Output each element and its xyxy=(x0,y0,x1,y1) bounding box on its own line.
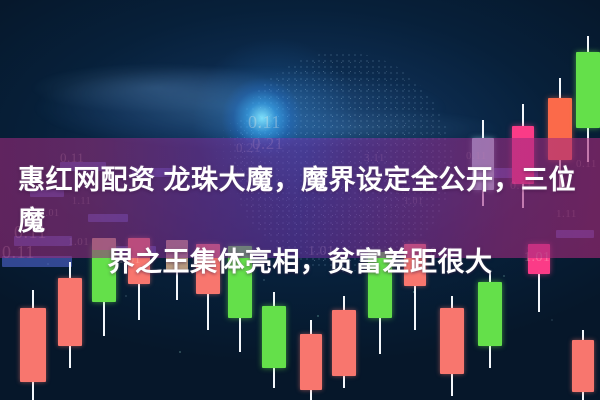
page-title: 惠红网配资 龙珠大魔，魔界设定全公开，三位魔 界之王集体亮相，贫富差距很大 xyxy=(0,160,600,283)
headline-line-2: 界之王集体亮相，贫富差距很大 xyxy=(18,242,582,283)
headline-line-1: 惠红网配资 龙珠大魔，魔界设定全公开，三位魔 xyxy=(18,160,582,242)
ticker-number: 0.11 xyxy=(248,112,281,133)
banner-image: 0.110.210.111.010.110.111.011.111.010.21… xyxy=(0,0,600,400)
